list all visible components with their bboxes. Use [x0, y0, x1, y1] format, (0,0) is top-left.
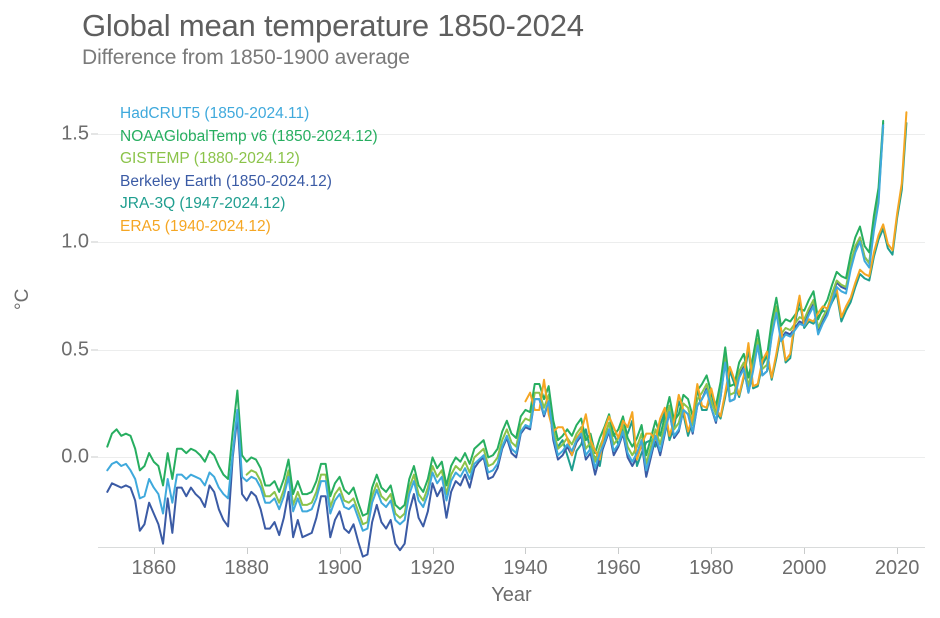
- y-tick-mark: [91, 133, 98, 134]
- legend-item[interactable]: ERA5 (1940-2024.12): [120, 216, 378, 238]
- legend-item[interactable]: NOAAGlobalTemp v6 (1850-2024.12): [120, 126, 378, 148]
- x-tick-label: 1860: [132, 557, 177, 580]
- y-tick-label: 1.0: [61, 230, 89, 253]
- chart-title: Global mean temperature 1850-2024: [82, 8, 584, 44]
- y-tick-label: 1.5: [61, 122, 89, 145]
- x-tick-label: 2020: [875, 557, 920, 580]
- series-line: [525, 112, 906, 459]
- x-tick-mark: [340, 548, 341, 554]
- legend-item[interactable]: GISTEMP (1880-2024.12): [120, 148, 378, 170]
- x-tick-label: 1940: [503, 557, 548, 580]
- y-tick-label: 0.5: [61, 338, 89, 361]
- x-axis-label: Year: [98, 584, 925, 607]
- x-tick-label: 1980: [689, 557, 734, 580]
- x-tick-mark: [897, 548, 898, 554]
- y-tick-mark: [91, 241, 98, 242]
- x-tick-label: 1920: [410, 557, 455, 580]
- x-tick-mark: [154, 548, 155, 554]
- x-tick-label: 1900: [317, 557, 362, 580]
- x-tick-label: 1960: [596, 557, 641, 580]
- y-axis-label: °C: [12, 289, 34, 310]
- x-tick-mark: [804, 548, 805, 554]
- x-tick-mark: [433, 548, 434, 554]
- x-tick-mark: [711, 548, 712, 554]
- x-tick-mark: [247, 548, 248, 554]
- chart-legend: HadCRUT5 (1850-2024.11)NOAAGlobalTemp v6…: [120, 103, 378, 237]
- x-tick-mark: [525, 548, 526, 554]
- y-tick-mark: [91, 349, 98, 350]
- x-tick-label: 2000: [782, 557, 827, 580]
- legend-item[interactable]: JRA-3Q (1947-2024.12): [120, 193, 378, 215]
- legend-item[interactable]: HadCRUT5 (1850-2024.11): [120, 103, 378, 125]
- y-tick-label: 0.0: [61, 446, 89, 469]
- x-tick-mark: [618, 548, 619, 554]
- y-tick-mark: [91, 457, 98, 458]
- x-tick-label: 1880: [224, 557, 269, 580]
- legend-item[interactable]: Berkeley Earth (1850-2024.12): [120, 171, 378, 193]
- chart-subtitle: Difference from 1850-1900 average: [82, 46, 410, 70]
- chart-container: Global mean temperature 1850-2024 Differ…: [0, 0, 940, 618]
